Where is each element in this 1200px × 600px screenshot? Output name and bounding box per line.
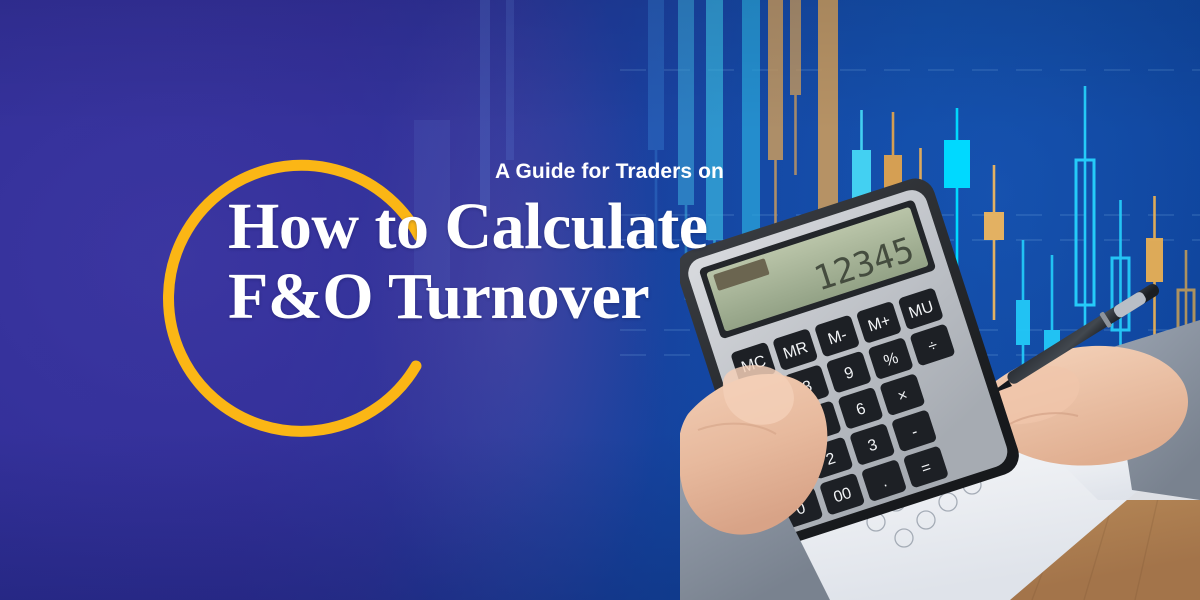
headline-line-2: F&O Turnover [228, 263, 728, 331]
photo-hands-calculator: 12345 MCMRM-M+MU789%÷456×123-000.=C/AC [680, 170, 1200, 600]
headline-line-1: How to Calculate [228, 193, 728, 261]
text-block: A Guide for Traders on How to Calculate … [228, 160, 728, 331]
eyebrow-text: A Guide for Traders on [228, 160, 728, 184]
banner-root: 12345 MCMRM-M+MU789%÷456×123-000.=C/AC A… [0, 0, 1200, 600]
